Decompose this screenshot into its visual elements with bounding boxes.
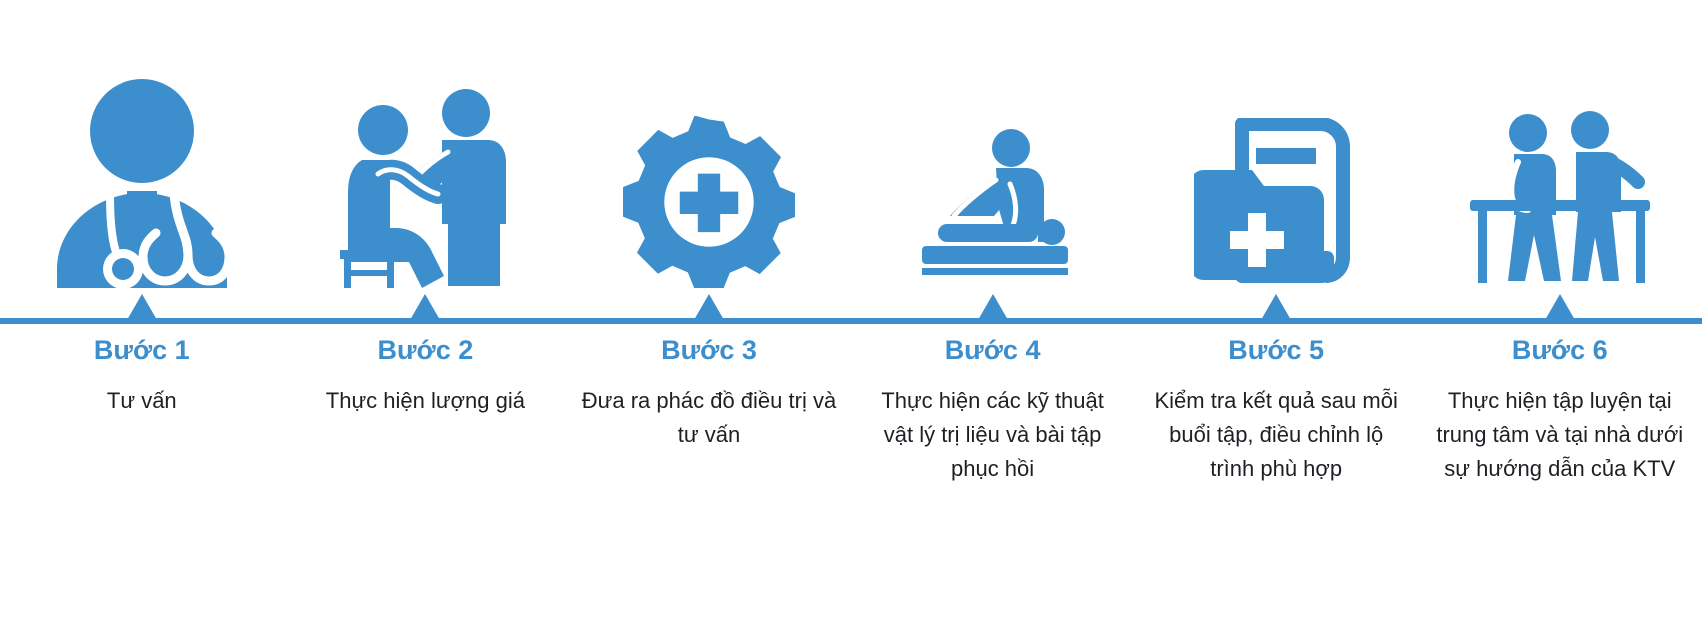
triangle-marker-icon bbox=[1261, 294, 1291, 320]
step-2: Bước 2 Thực hiện lượng giá bbox=[284, 330, 568, 486]
step-1-title: Bước 1 bbox=[14, 336, 270, 366]
marker-cell-6 bbox=[1418, 294, 1702, 320]
step-4-icon-cell bbox=[851, 0, 1135, 300]
timeline-markers bbox=[0, 294, 1702, 320]
step-text-row: Bước 1 Tư vấn Bước 2 Thực hiện lượng giá… bbox=[0, 330, 1702, 486]
step-1-icon-cell bbox=[0, 0, 284, 300]
marker-cell-2 bbox=[284, 294, 568, 320]
medical-record-folder-icon bbox=[1194, 118, 1359, 288]
step-6: Bước 6 Thực hiện tập luyện tại trung tâm… bbox=[1418, 330, 1702, 486]
step-1-description: Tư vấn bbox=[14, 384, 270, 418]
step-4-title: Bước 4 bbox=[865, 336, 1121, 366]
step-6-icon-cell bbox=[1418, 0, 1702, 300]
doctor-stethoscope-icon bbox=[57, 73, 227, 288]
step-3-icon-cell bbox=[567, 0, 851, 300]
step-4-description: Thực hiện các kỹ thuật vật lý trị liệu v… bbox=[865, 384, 1121, 486]
marker-cell-3 bbox=[567, 294, 851, 320]
step-1: Bước 1 Tư vấn bbox=[0, 330, 284, 486]
parallel-bars-walking-training-icon bbox=[1470, 108, 1650, 288]
step-4: Bước 4 Thực hiện các kỹ thuật vật lý trị… bbox=[851, 330, 1135, 486]
gear-medical-cross-icon bbox=[623, 116, 795, 288]
process-timeline-infographic: Bước 1 Tư vấn Bước 2 Thực hiện lượng giá… bbox=[0, 0, 1702, 630]
patient-assessment-icon bbox=[338, 88, 513, 288]
step-3: Bước 3 Đưa ra phác đồ điều trị và tư vấn bbox=[567, 330, 851, 486]
step-2-description: Thực hiện lượng giá bbox=[298, 384, 554, 418]
step-5-title: Bước 5 bbox=[1148, 336, 1404, 366]
marker-cell-1 bbox=[0, 294, 284, 320]
step-5-icon-cell bbox=[1134, 0, 1418, 300]
step-5: Bước 5 Kiểm tra kết quả sau mỗi buổi tập… bbox=[1134, 330, 1418, 486]
icon-row bbox=[0, 0, 1702, 300]
marker-cell-4 bbox=[851, 294, 1135, 320]
triangle-marker-icon bbox=[410, 294, 440, 320]
step-2-title: Bước 2 bbox=[298, 336, 554, 366]
triangle-marker-icon bbox=[1545, 294, 1575, 320]
triangle-marker-icon bbox=[694, 294, 724, 320]
triangle-marker-icon bbox=[127, 294, 157, 320]
step-5-description: Kiểm tra kết quả sau mỗi buổi tập, điều … bbox=[1148, 384, 1404, 486]
physical-therapy-massage-icon bbox=[900, 128, 1085, 288]
step-3-title: Bước 3 bbox=[581, 336, 837, 366]
step-6-description: Thực hiện tập luyện tại trung tâm và tại… bbox=[1432, 384, 1688, 486]
step-6-title: Bước 6 bbox=[1432, 336, 1688, 366]
marker-cell-5 bbox=[1134, 294, 1418, 320]
step-3-description: Đưa ra phác đồ điều trị và tư vấn bbox=[581, 384, 837, 452]
triangle-marker-icon bbox=[978, 294, 1008, 320]
step-2-icon-cell bbox=[284, 0, 568, 300]
